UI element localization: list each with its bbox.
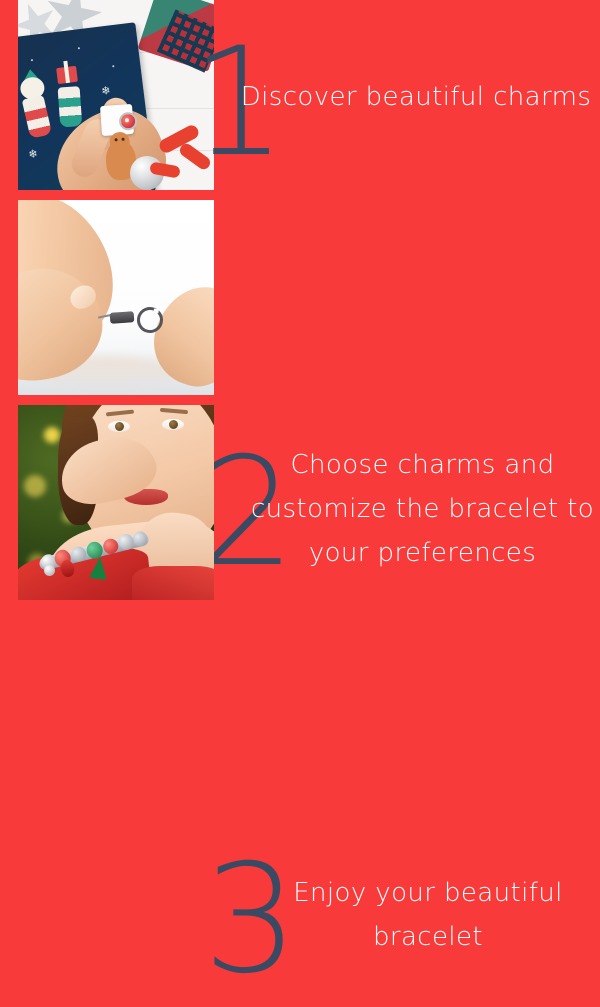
step-3: 3 Enjoy your beautiful bracelet bbox=[0, 405, 600, 600]
step-1-caption: Discover beautiful charms bbox=[236, 80, 596, 114]
gift-box-icon bbox=[56, 66, 78, 84]
step-1: ❄ ❄ ❄ bbox=[0, 0, 600, 190]
red-dress bbox=[132, 566, 214, 600]
stocking-icon bbox=[22, 95, 52, 139]
step-3-caption: Enjoy your beautiful bracelet bbox=[263, 871, 593, 959]
charm-tree-icon bbox=[89, 556, 109, 580]
step-2-photo-canvas bbox=[18, 200, 214, 395]
step-2: 2 Choose charms and customize the bracel… bbox=[0, 200, 600, 395]
step-1-photo-canvas: ❄ ❄ ❄ bbox=[18, 0, 214, 190]
eye bbox=[108, 421, 130, 432]
how-it-works-infographic: ❄ ❄ ❄ bbox=[0, 0, 600, 600]
snowflake-icon: ❄ bbox=[101, 84, 112, 98]
step-3-photo-girl-bracelet bbox=[18, 405, 214, 600]
gingerbread-head bbox=[109, 131, 130, 152]
charm-bead-icon bbox=[44, 565, 55, 576]
step-2-photo-clasp bbox=[18, 200, 214, 395]
eye bbox=[162, 419, 184, 430]
step-1-photo-advent-calendar: ❄ ❄ ❄ bbox=[18, 0, 214, 190]
stocking-icon bbox=[58, 86, 83, 127]
step-3-caption-line: Enjoy your beautiful bbox=[263, 871, 593, 915]
step-3-caption-line: bracelet bbox=[263, 915, 593, 959]
snowflake-icon: ❄ bbox=[28, 147, 39, 161]
bracelet-clasp-icon bbox=[110, 311, 135, 324]
step-3-photo-canvas bbox=[18, 405, 214, 600]
